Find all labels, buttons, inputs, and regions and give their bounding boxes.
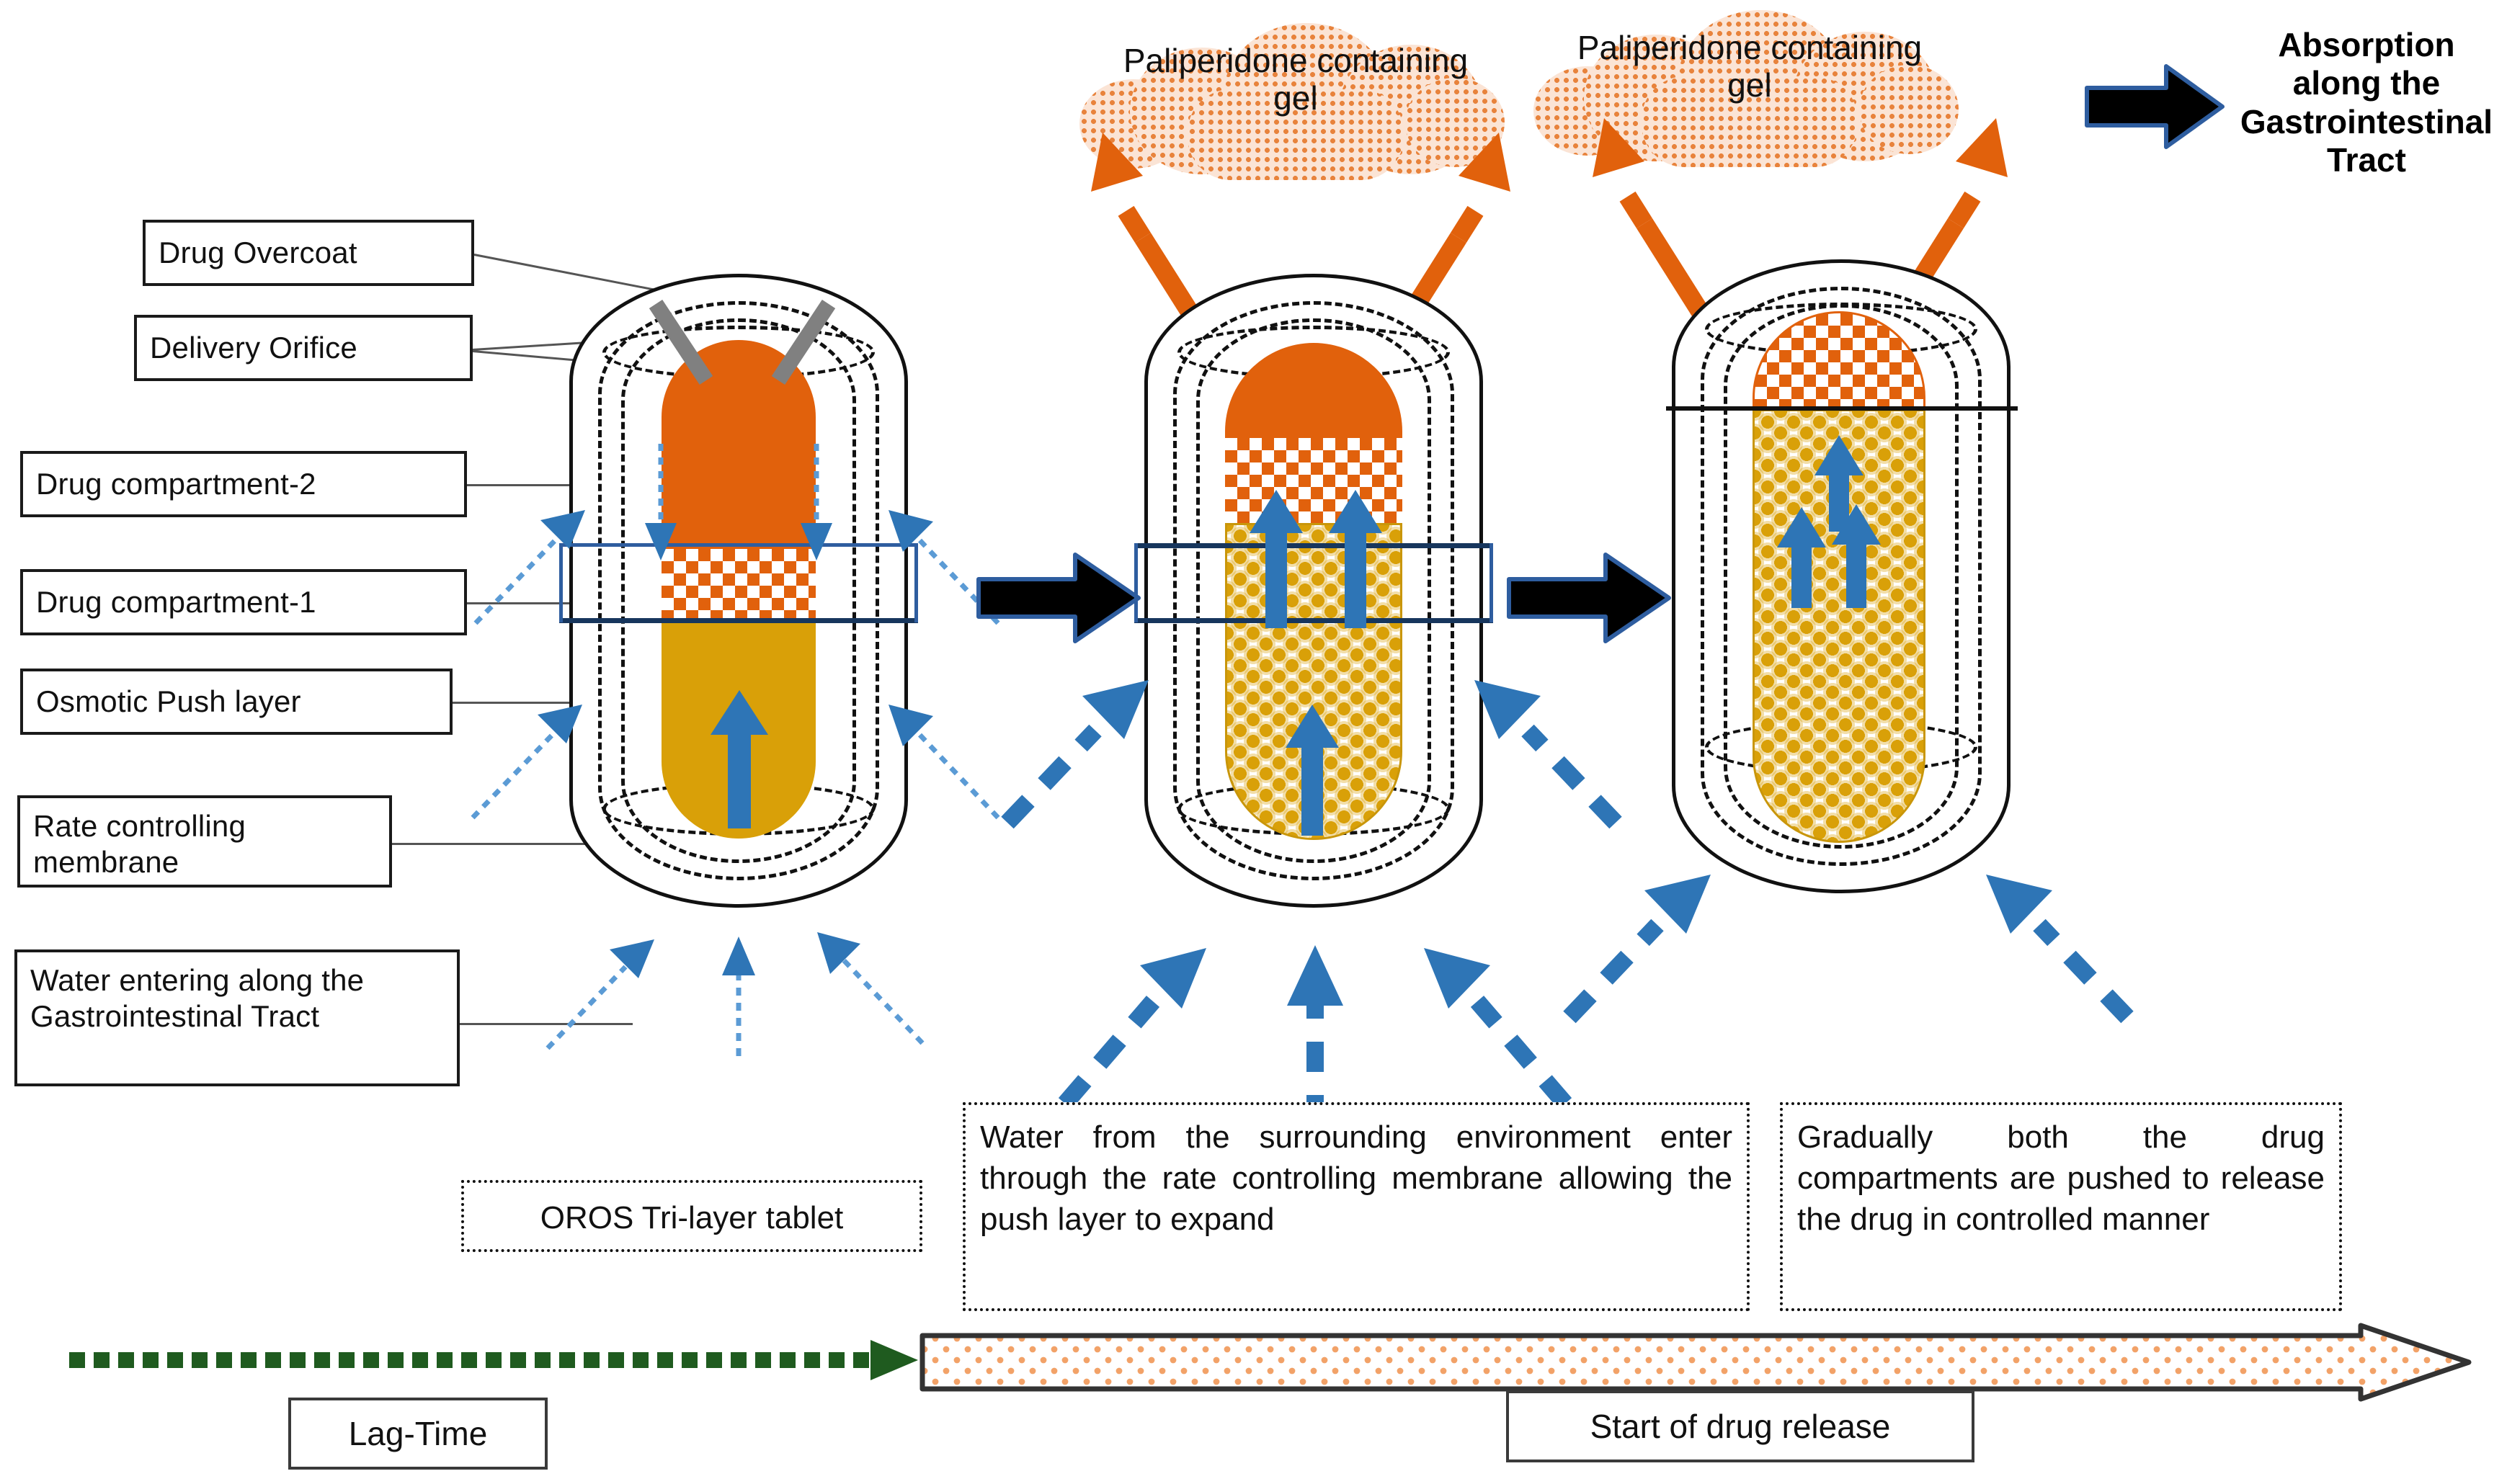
push-arrow-icon — [1773, 504, 1830, 611]
callout-drug-overcoat: Drug Overcoat — [143, 220, 474, 286]
callout-label: Rate controlling membrane — [33, 809, 246, 879]
caption-box-stage-3: Gradually both the drug compartments are… — [1780, 1102, 2342, 1311]
callout-rate-controlling-membrane: Rate controlling membrane — [17, 795, 392, 888]
push-arrow-icon — [705, 687, 774, 831]
absorption-arrow-icon — [2083, 61, 2227, 153]
water-inflow-arrow-icon — [1557, 864, 1722, 1030]
water-inflow-arrow-icon — [461, 504, 591, 634]
absorption-caption: Absorption along the Gastrointestinal Tr… — [2230, 26, 2503, 179]
delivery-orifice-icon — [627, 295, 858, 396]
transition-arrow-2-icon — [1505, 547, 1675, 648]
start-of-drug-release-label-text: Start of drug release — [1590, 1407, 1891, 1446]
callout-drug-compartment-1: Drug compartment-1 — [20, 569, 467, 635]
push-arrow-icon — [1281, 702, 1343, 839]
absorption-caption-text: Absorption along the Gastrointestinal Tr… — [2240, 26, 2493, 179]
water-inflow-arrow-icon — [994, 670, 1160, 836]
transition-arrow-1-icon — [974, 547, 1144, 648]
push-arrow-icon — [1245, 487, 1307, 631]
water-inflow-arrow-icon — [1052, 929, 1218, 1117]
caption-stage-2-text: Water from the surrounding environment e… — [980, 1119, 1732, 1237]
callout-label: Drug Overcoat — [159, 235, 357, 271]
start-of-drug-release-label-box: Start of drug release — [1506, 1390, 1974, 1462]
cloud-stage-2-label: Paliperidone containing gel — [1108, 42, 1483, 117]
water-inflow-arrow-icon — [883, 699, 1012, 828]
caption-box-stage-2: Water from the surrounding environment e… — [963, 1102, 1750, 1311]
lag-time-label-text: Lag-Time — [349, 1414, 488, 1453]
compartment-band-right — [1489, 543, 1493, 622]
callout-drug-compartment-2: Drug compartment-2 — [20, 451, 467, 517]
cloud-label-text: Paliperidone containing gel — [1577, 29, 1922, 104]
water-inflow-arrow-icon — [533, 929, 663, 1059]
compartment-band-top — [559, 543, 918, 547]
water-inflow-arrow-icon — [807, 922, 937, 1052]
callout-water-entering: Water entering along the Gastrointestina… — [14, 949, 460, 1086]
compartment-band-left — [1134, 543, 1138, 622]
tablet-stage-3 — [1672, 259, 2011, 893]
lag-time-label-box: Lag-Time — [288, 1398, 548, 1470]
push-arrow-icon — [1827, 501, 1885, 611]
compartment-band-bottom — [1134, 618, 1493, 623]
water-inflow-arrow-icon — [791, 439, 842, 562]
callout-label: Delivery Orifice — [150, 330, 357, 366]
callout-label: Drug compartment-1 — [36, 584, 316, 620]
oros-tablet-label-box: OROS Tri-layer tablet — [461, 1180, 922, 1252]
oros-tablet-label-text: OROS Tri-layer tablet — [540, 1197, 844, 1238]
push-arrow-icon — [1324, 487, 1386, 631]
compartment-band-bottom — [559, 618, 918, 623]
cloud-label-text: Paliperidone containing gel — [1123, 42, 1468, 117]
water-inflow-arrow-icon — [1463, 670, 1629, 836]
tablet-stage-1 — [569, 274, 908, 908]
water-inflow-arrow-icon — [1974, 864, 2140, 1030]
water-inflow-arrow-icon — [1412, 929, 1578, 1117]
caption-stage-3-text: Gradually both the drug compartments are… — [1797, 1119, 2325, 1237]
water-inflow-arrow-icon — [458, 699, 588, 828]
callout-label: Osmotic Push layer — [36, 684, 301, 720]
water-inflow-arrow-icon — [636, 439, 686, 562]
callout-delivery-orifice: Delivery Orifice — [134, 315, 473, 381]
diagram-canvas: Drug Overcoat Delivery Orifice Drug comp… — [0, 0, 2507, 1484]
callout-label: Drug compartment-2 — [36, 466, 316, 502]
compartment-band-top — [1134, 543, 1493, 548]
tablet-stage-2 — [1144, 274, 1483, 908]
callout-label: Water entering along the Gastrointestina… — [30, 963, 364, 1033]
water-inflow-arrow-icon — [713, 929, 764, 1059]
callout-osmotic-push-layer: Osmotic Push layer — [20, 669, 453, 735]
compartment-band — [1666, 406, 2018, 411]
cloud-stage-3-label: Paliperidone containing gel — [1562, 29, 1937, 104]
lag-time-arrow-icon — [65, 1338, 922, 1382]
